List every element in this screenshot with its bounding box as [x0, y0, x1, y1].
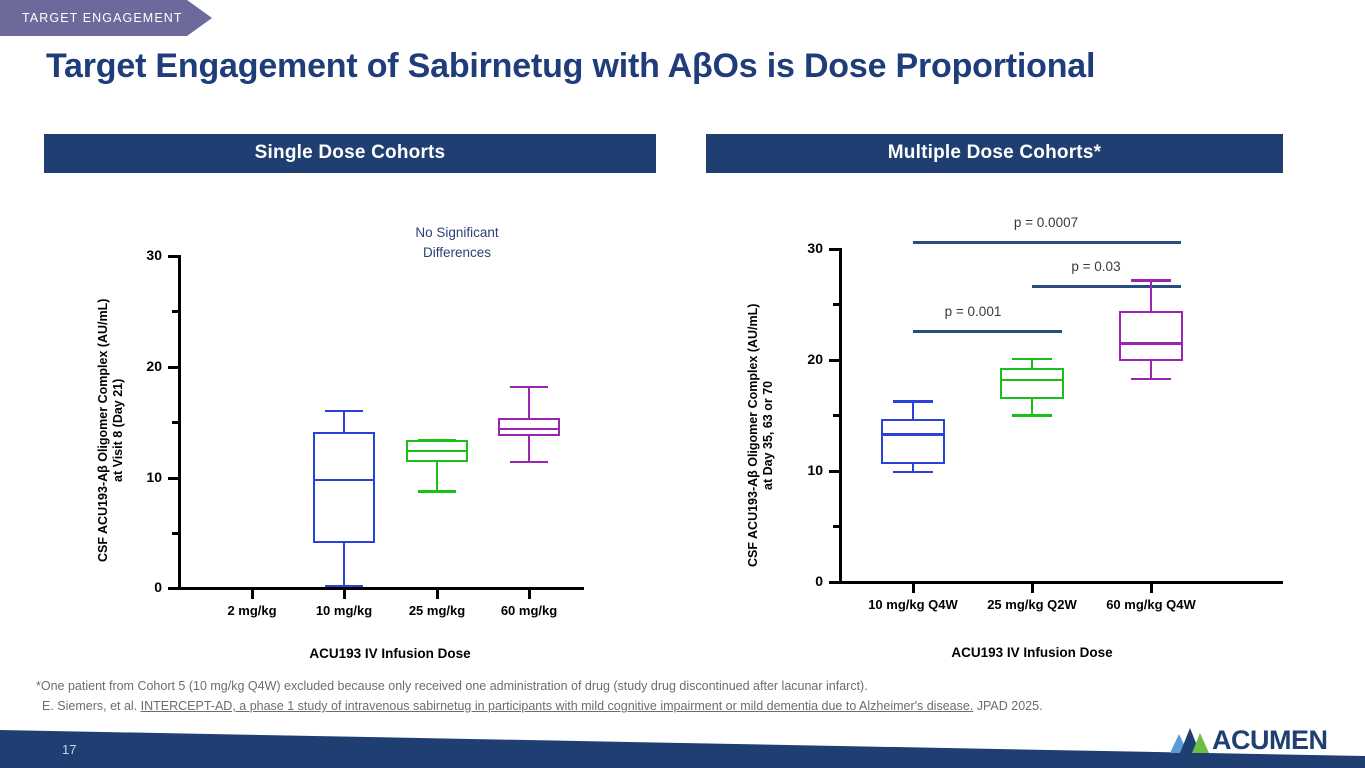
section-badge-label: TARGET ENGAGEMENT	[0, 11, 183, 25]
footnotes: *One patient from Cohort 5 (10 mg/kg Q4W…	[36, 676, 1236, 716]
section-badge: TARGET ENGAGEMENT	[0, 0, 212, 36]
median-line	[1119, 342, 1183, 345]
panel-single-dose: Single Dose Cohorts CSF ACU193-Aβ Oligom…	[44, 134, 656, 673]
x-axis-title-right: ACU193 IV Infusion Dose	[882, 645, 1182, 660]
chart-multiple-dose: CSF ACU193-Aβ Oligomer Complex (AU/mL) a…	[706, 173, 1283, 673]
footnote-citation: E. Siemers, et al. INTERCEPT-AD, a phase…	[36, 696, 1236, 716]
boxplot-layer-left	[44, 173, 656, 673]
boxplot-4	[44, 173, 656, 673]
whisker-cap-upper	[510, 386, 548, 389]
page-number: 17	[62, 742, 76, 757]
citation-journal: JPAD 2025.	[973, 699, 1042, 713]
x-axis-title-left: ACU193 IV Infusion Dose	[240, 646, 540, 661]
mountain-peaks-icon	[1168, 725, 1210, 755]
whisker-lower	[528, 436, 531, 463]
boxplot-3	[706, 173, 1283, 673]
page-title: Target Engagement of Sabirnetug with AβO…	[46, 47, 1095, 86]
panel-multiple-dose: Multiple Dose Cohorts* CSF ACU193-Aβ Oli…	[706, 134, 1283, 673]
citation-title-link[interactable]: INTERCEPT-AD, a phase 1 study of intrave…	[141, 699, 974, 713]
footer-banner	[0, 718, 1365, 768]
median-line	[498, 428, 560, 431]
box-iqr	[1119, 311, 1183, 361]
panel-single-dose-header: Single Dose Cohorts	[44, 134, 656, 173]
footnote-exclusion: *One patient from Cohort 5 (10 mg/kg Q4W…	[36, 676, 1236, 696]
whisker-upper	[1150, 279, 1153, 311]
citation-authors: E. Siemers, et al.	[42, 699, 141, 713]
acumen-logo: ACUMEN	[1168, 722, 1338, 758]
whisker-cap-lower	[1131, 378, 1171, 381]
whisker-upper	[528, 386, 531, 418]
whisker-cap-lower	[510, 461, 548, 464]
boxplot-layer-right	[706, 173, 1283, 673]
panel-multiple-dose-header: Multiple Dose Cohorts*	[706, 134, 1283, 173]
whisker-cap-upper	[1131, 279, 1171, 282]
chart-single-dose: CSF ACU193-Aβ Oligomer Complex (AU/mL) a…	[44, 173, 656, 673]
acumen-logo-text: ACUMEN	[1212, 725, 1328, 756]
